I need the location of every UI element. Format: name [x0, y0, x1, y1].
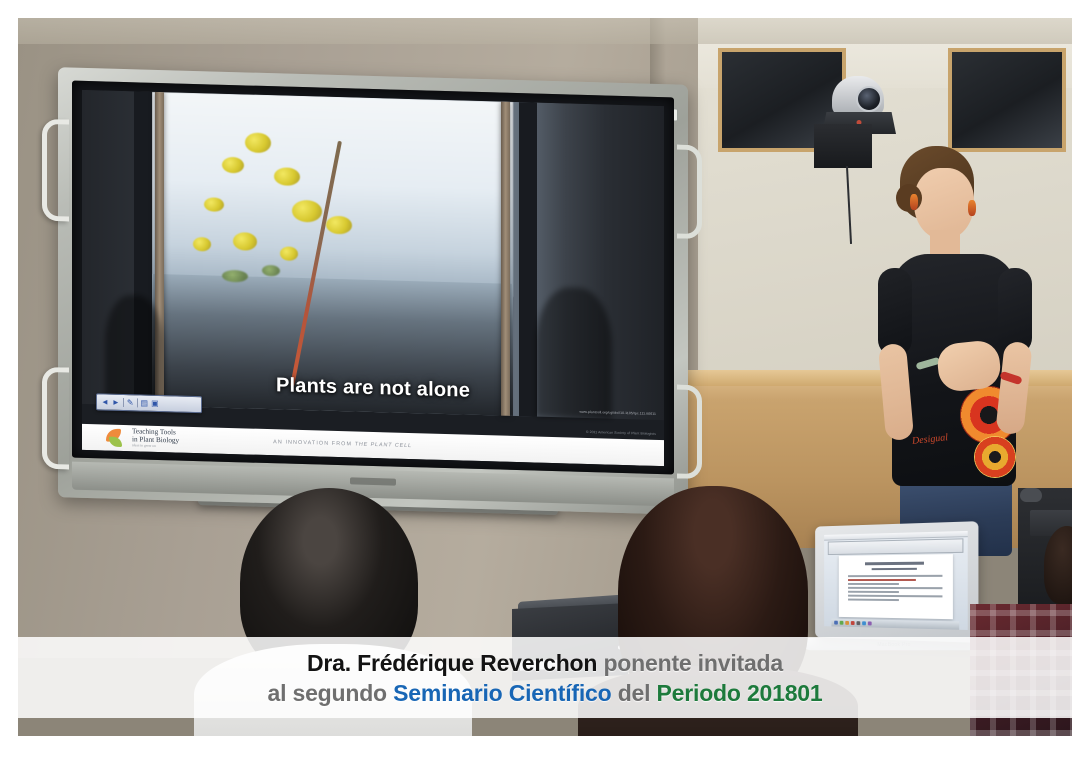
laptop-document-page[interactable]	[839, 554, 953, 619]
presenter-earring-left	[910, 194, 918, 210]
display-handle-bottom-left[interactable]	[42, 367, 69, 470]
display-brand-mark	[350, 477, 396, 485]
slide-flower-cluster	[280, 246, 298, 261]
footer-prefix: AN INNOVATION FROM	[273, 439, 352, 447]
dock-icon[interactable]	[856, 621, 860, 625]
display-handle-top-left[interactable]	[42, 119, 69, 222]
slide-flower-cluster	[245, 132, 271, 153]
logo-leaf-green	[109, 437, 122, 447]
right-arrow-icon[interactable]: ►	[112, 398, 120, 406]
caption-speaker-name: Dra. Frédérique Reverchon	[307, 650, 597, 676]
display-screen[interactable]: Plants are not alone www.plantcell.org/c…	[82, 90, 664, 466]
caption-prefix: al segundo	[268, 680, 387, 706]
eraser-icon[interactable]: ▣	[151, 399, 159, 407]
document-text-line	[848, 598, 899, 600]
presenter-earring-right	[968, 200, 976, 216]
toolbar-separator	[137, 398, 138, 407]
save-icon[interactable]: ▤	[141, 399, 149, 407]
document-text-line	[848, 583, 899, 585]
display-handle-top-right[interactable]	[677, 144, 702, 239]
laptop-lid	[815, 521, 978, 643]
caption-connector: del	[618, 680, 651, 706]
slide-foliage	[222, 270, 248, 283]
interactive-flat-panel-display[interactable]: Plants are not alone www.plantcell.org/c…	[58, 67, 688, 515]
document-heading	[865, 562, 924, 565]
presenter-hair-bun	[896, 184, 922, 212]
caption-line-1: Dra. Frédérique Reverchon ponente invita…	[307, 648, 783, 678]
laptop-word-toolbar[interactable]	[828, 538, 964, 555]
presentation-slide: Plants are not alone www.plantcell.org/c…	[82, 90, 664, 466]
document-subheading	[871, 567, 917, 570]
slide-copyright: © 2011 American Society of Plant Biologi…	[586, 430, 656, 436]
slide-wooden-post-right	[501, 102, 510, 416]
display-handle-bottom-right[interactable]	[677, 384, 702, 479]
slide-dark-band-right	[519, 102, 537, 417]
pen-icon[interactable]: ✎	[127, 399, 134, 407]
slide-footer-bar: Teaching Tools in Plant Biology ideas to…	[82, 424, 664, 466]
teaching-tools-logo-icon	[104, 427, 128, 448]
caption-period: Periodo 201801	[657, 680, 823, 706]
slide-foliage	[262, 264, 280, 276]
slide-flower-cluster	[222, 157, 244, 174]
dock-icon[interactable]	[862, 621, 866, 625]
toolbar-separator	[123, 398, 124, 407]
slide-flower-cluster	[204, 197, 224, 212]
caption-line-2: al segundo Seminario Científico del Peri…	[268, 678, 823, 708]
slide-flower-cluster	[292, 199, 322, 222]
dock-icon[interactable]	[845, 621, 849, 625]
left-arrow-icon[interactable]: ◄	[101, 398, 109, 406]
document-text-line	[848, 579, 915, 581]
presenter-sleeve-left	[878, 268, 912, 356]
display-frame-inner: Plants are not alone www.plantcell.org/c…	[72, 81, 674, 475]
laptop-screen[interactable]	[824, 531, 968, 630]
document-text-line	[848, 587, 942, 589]
document-text-line	[848, 595, 942, 597]
footer-journal-name: THE PLANT CELL	[355, 441, 412, 449]
logo-tagline: ideas to grow on	[132, 444, 179, 449]
document-text-line	[848, 591, 899, 593]
camera-lens-icon	[856, 86, 882, 112]
caption-event-name: Seminario Científico	[393, 680, 611, 706]
slide-footer-logo-text: Teaching Tools in Plant Biology ideas to…	[132, 428, 179, 449]
slide-annotation-toolbar[interactable]: ◄ ► ✎ ▤ ▣	[96, 393, 202, 413]
photo-matte-frame: Desigual	[0, 0, 1090, 760]
laptop-dock[interactable]	[831, 619, 959, 630]
slide-sky	[152, 92, 513, 297]
caption-banner: Dra. Frédérique Reverchon ponente invita…	[18, 637, 1072, 718]
dock-icon[interactable]	[840, 621, 844, 625]
document-text-line	[848, 575, 942, 577]
slide-footer-right-spacer	[506, 449, 664, 453]
seminar-photograph: Desigual	[18, 18, 1072, 736]
dock-icon[interactable]	[834, 621, 838, 625]
dock-icon[interactable]	[868, 621, 872, 625]
presenter-speaker: Desigual	[848, 146, 1058, 546]
credenza-glass-door-right	[948, 48, 1066, 152]
presenter-sleeve-right	[998, 268, 1032, 354]
caption-role: ponente invitada	[603, 650, 783, 676]
tshirt-circle-pattern-low	[974, 436, 1016, 478]
dock-icon[interactable]	[851, 621, 855, 625]
ceiling-strip	[18, 18, 1072, 44]
slide-footer-innovation-text: AN INNOVATION FROM THE PLANT CELL	[179, 437, 506, 452]
